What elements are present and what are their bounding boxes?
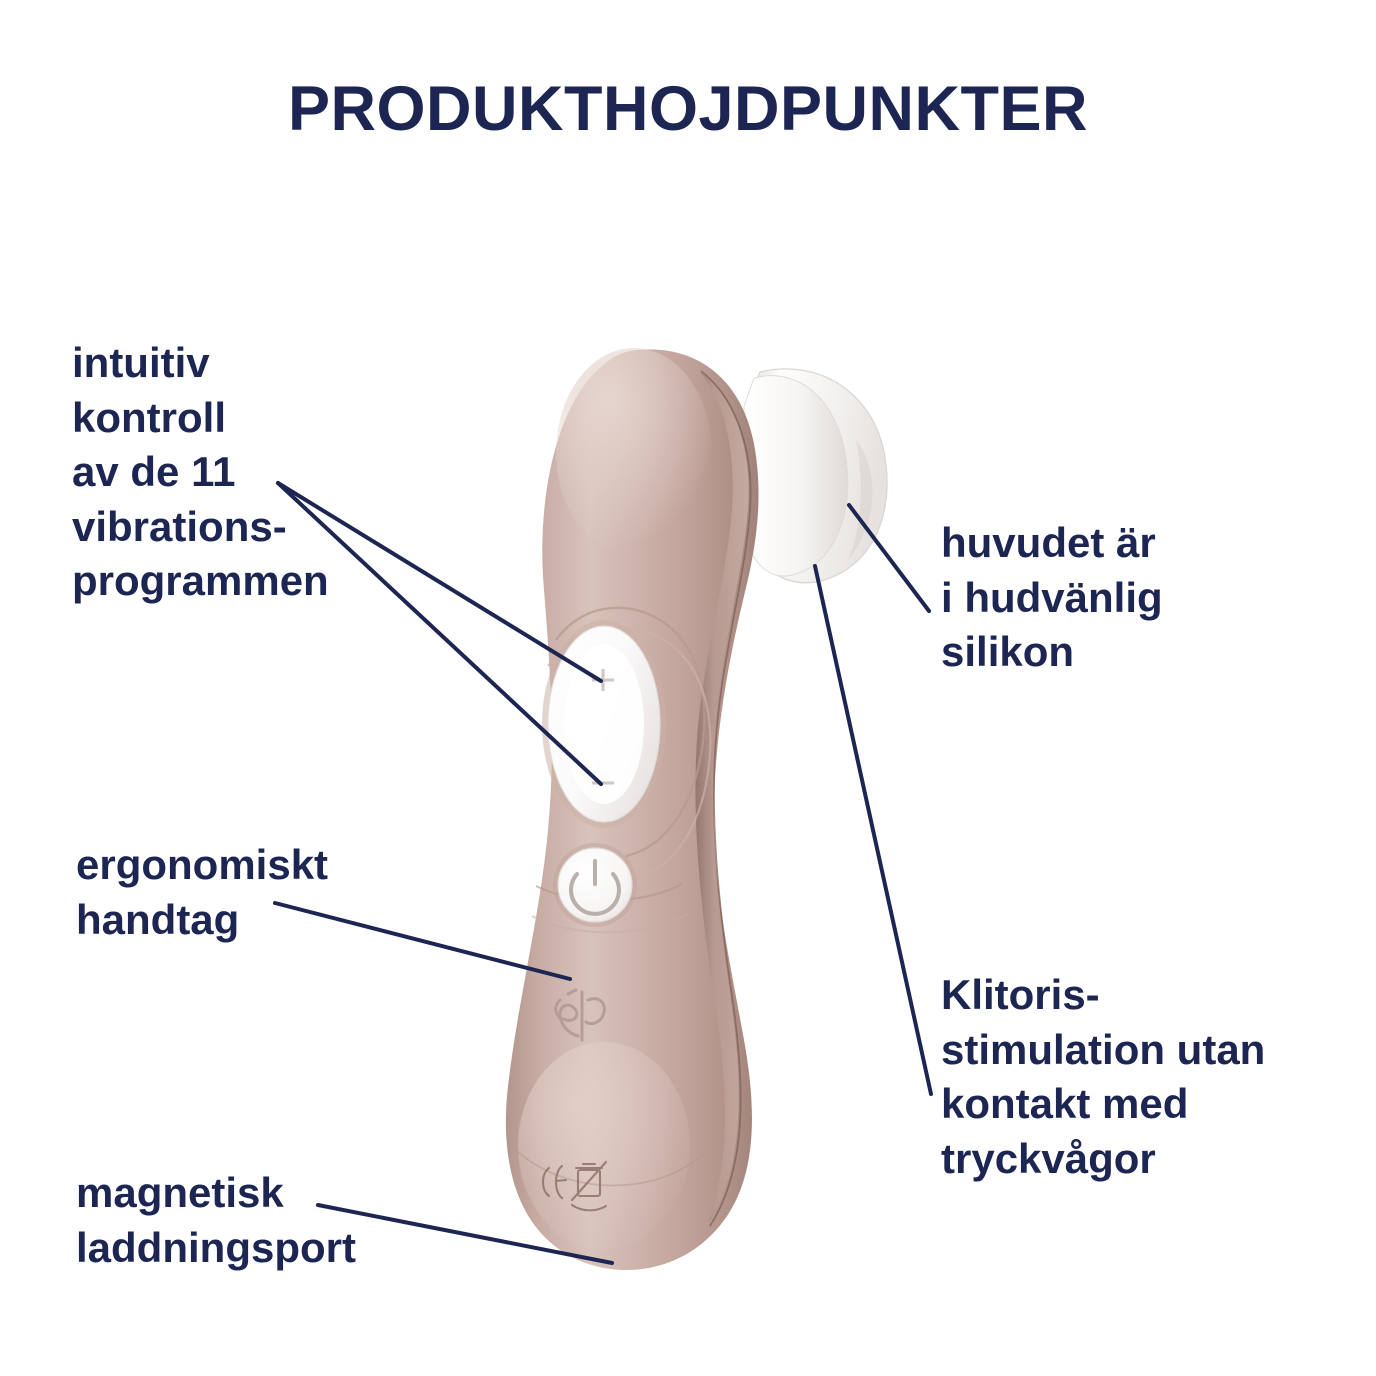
silicone-head bbox=[744, 369, 887, 583]
power-button[interactable] bbox=[553, 843, 637, 927]
infographic-canvas: PRODUKTHOJDPUNKTER bbox=[0, 0, 1376, 1376]
intensity-control-pad[interactable] bbox=[542, 620, 666, 828]
product-illustration bbox=[0, 0, 1376, 1376]
